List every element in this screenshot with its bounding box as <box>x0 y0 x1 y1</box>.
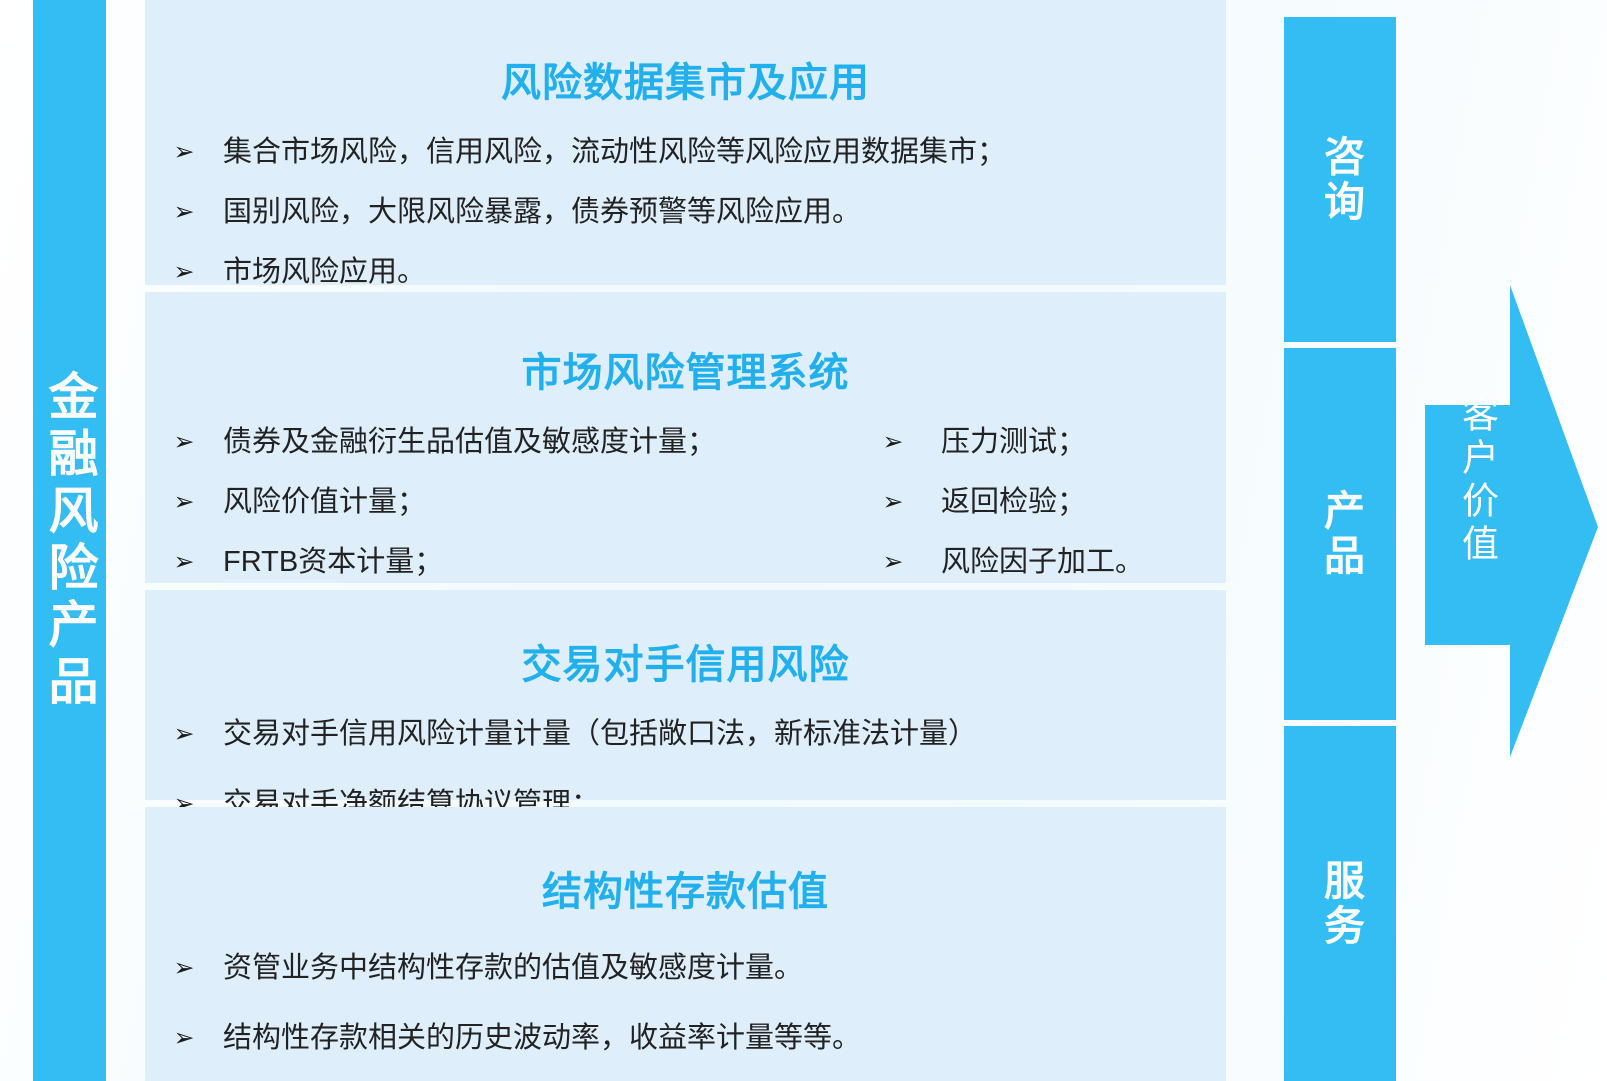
list-item-label: 返回检验； <box>941 486 1086 518</box>
panel-counterparty-credit-risk[interactable]: 交易对手信用风险 ➢ 交易对手信用风险计量计量（包括敞口法，新标准法计量） ➢ … <box>145 590 1226 800</box>
customer-value-arrow: 客户价值 <box>1420 275 1607 770</box>
list-item-label: FRTB资本计量； <box>223 546 443 578</box>
arrow-bullet-icon: ➢ <box>845 426 941 458</box>
list-item-label: 交易对手信用风险计量计量（包括敞口法，新标准法计量） <box>223 718 977 750</box>
list-item-label: 市场风险应用。 <box>223 256 426 288</box>
stack-cell-service[interactable]: 服务 <box>1284 726 1396 1081</box>
left-category-banner: 金融风险产品 <box>33 0 106 1081</box>
arrow-bullet-icon: ➢ <box>145 256 223 288</box>
left-banner-label: 金融风险产品 <box>45 370 95 712</box>
list-item-label: 压力测试； <box>941 426 1086 458</box>
bullet-two-column: ➢ 债券及金融衍生品估值及敏感度计量； ➢ 风险价值计量； ➢ FRTB资本计量… <box>145 426 1226 606</box>
panels-column: 风险数据集市及应用 ➢ 集合市场风险，信用风险，流动性风险等风险应用数据集市； … <box>145 0 1226 1081</box>
stack-cell-label: 咨询 <box>1320 135 1361 225</box>
arrow-bullet-icon: ➢ <box>145 1022 223 1054</box>
arrow-label: 客户价值 <box>1459 395 1496 567</box>
left-banner-text-wrap: 金融风险产品 <box>33 0 106 1081</box>
stack-cell-product[interactable]: 产品 <box>1284 348 1396 720</box>
stack-cell-label: 产品 <box>1320 489 1361 579</box>
offering-stack: 咨询 产品 服务 <box>1284 0 1396 1081</box>
arrow-bullet-icon: ➢ <box>145 718 223 750</box>
arrow-bullet-icon: ➢ <box>145 136 223 168</box>
panel-title: 结构性存款估值 <box>145 840 1226 912</box>
arrow-bullet-icon: ➢ <box>145 952 223 984</box>
list-item-label: 债券及金融衍生品估值及敏感度计量； <box>223 426 716 458</box>
bullet-list: ➢ 交易对手信用风险计量计量（包括敞口法，新标准法计量） ➢ 交易对手净额结算协… <box>145 718 1226 820</box>
list-item[interactable]: ➢ 债券及金融衍生品估值及敏感度计量； <box>145 426 845 458</box>
list-item[interactable]: ➢ 压力测试； <box>845 426 1226 458</box>
arrow-bullet-icon: ➢ <box>845 486 941 518</box>
panel-title: 风险数据集市及应用 <box>145 33 1226 103</box>
panel-title: 交易对手信用风险 <box>145 623 1226 685</box>
panel-title: 市场风险管理系统 <box>145 325 1226 393</box>
arrow-bullet-icon: ➢ <box>145 546 223 578</box>
panel-market-risk-system[interactable]: 市场风险管理系统 ➢ 债券及金融衍生品估值及敏感度计量； ➢ 风险价值计量； ➢… <box>145 292 1226 583</box>
arrow-bullet-icon: ➢ <box>145 486 223 518</box>
list-item[interactable]: ➢ 交易对手信用风险计量计量（包括敞口法，新标准法计量） <box>145 718 1226 750</box>
list-item-label: 国别风险，大限风险暴露，债券预警等风险应用。 <box>223 196 861 228</box>
list-item[interactable]: ➢ 国别风险，大限风险暴露，债券预警等风险应用。 <box>145 196 1226 228</box>
arrow-bullet-icon: ➢ <box>145 196 223 228</box>
stack-cell-label: 服务 <box>1320 859 1361 949</box>
list-item[interactable]: ➢ 风险价值计量； <box>145 486 845 518</box>
list-item-label: 结构性存款相关的历史波动率，收益率计量等等。 <box>223 1022 861 1054</box>
list-item[interactable]: ➢ 结构性存款相关的历史波动率，收益率计量等等。 <box>145 1022 1226 1054</box>
list-item[interactable]: ➢ FRTB资本计量； <box>145 546 845 578</box>
list-item-label: 资管业务中结构性存款的估值及敏感度计量。 <box>223 952 803 984</box>
stack-cell-consulting[interactable]: 咨询 <box>1284 17 1396 342</box>
list-item-label: 风险因子加工。 <box>941 546 1144 578</box>
arrow-label-wrap: 客户价值 <box>1432 395 1522 567</box>
list-item-label: 风险价值计量； <box>223 486 426 518</box>
slide-canvas: 金融风险产品 风险数据集市及应用 ➢ 集合市场风险，信用风险，流动性风险等风险应… <box>0 0 1607 1081</box>
panel-risk-data-mart[interactable]: 风险数据集市及应用 ➢ 集合市场风险，信用风险，流动性风险等风险应用数据集市； … <box>145 0 1226 285</box>
list-item-label: 集合市场风险，信用风险，流动性风险等风险应用数据集市； <box>223 136 1006 168</box>
arrow-bullet-icon: ➢ <box>845 546 941 578</box>
list-item[interactable]: ➢ 返回检验； <box>845 486 1226 518</box>
bullet-list-left: ➢ 债券及金融衍生品估值及敏感度计量； ➢ 风险价值计量； ➢ FRTB资本计量… <box>145 426 845 606</box>
bullet-list: ➢ 资管业务中结构性存款的估值及敏感度计量。 ➢ 结构性存款相关的历史波动率，收… <box>145 952 1226 1054</box>
bullet-list: ➢ 集合市场风险，信用风险，流动性风险等风险应用数据集市； ➢ 国别风险，大限风… <box>145 136 1226 288</box>
arrow-bullet-icon: ➢ <box>145 426 223 458</box>
bullet-list-right: ➢ 压力测试； ➢ 返回检验； ➢ 风险因子加工。 <box>845 426 1226 606</box>
list-item[interactable]: ➢ 资管业务中结构性存款的估值及敏感度计量。 <box>145 952 1226 984</box>
list-item[interactable]: ➢ 市场风险应用。 <box>145 256 1226 288</box>
list-item[interactable]: ➢ 集合市场风险，信用风险，流动性风险等风险应用数据集市； <box>145 136 1226 168</box>
panel-structured-deposit-valuation[interactable]: 结构性存款估值 ➢ 资管业务中结构性存款的估值及敏感度计量。 ➢ 结构性存款相关… <box>145 807 1226 1081</box>
list-item[interactable]: ➢ 风险因子加工。 <box>845 546 1226 578</box>
